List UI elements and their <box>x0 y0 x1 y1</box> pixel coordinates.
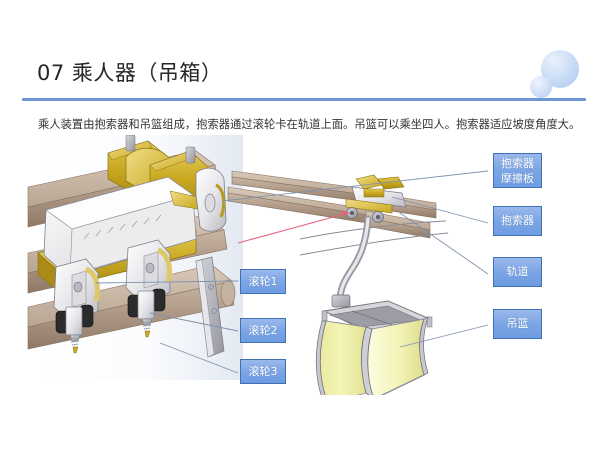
page-title: 07 乘人器（吊箱） <box>37 59 222 87</box>
callout-roller-3[interactable]: 滚轮3 <box>240 359 286 384</box>
decorative-circle-small-icon <box>530 76 552 98</box>
callout-track[interactable]: 轨道 <box>493 257 542 287</box>
cabin-body <box>316 317 428 395</box>
left-detail-gripper-jaw <box>196 168 226 231</box>
callout-gripper[interactable]: 抱索器 <box>493 206 542 236</box>
callout-roller-2[interactable]: 滚轮2 <box>240 318 286 343</box>
slide-subtitle: 乘人装置由抱索器和吊篮组成，抱索器通过滚轮卡在轨道上面。吊篮可以乘坐四人。抱索器… <box>38 117 568 133</box>
header-divider <box>22 98 586 101</box>
callout-cabin[interactable]: 吊篮 <box>493 309 542 339</box>
callout-friction-plate[interactable]: 抱索器 摩擦板 <box>493 153 542 188</box>
slide-canvas: 07 乘人器（吊箱） 乘人装置由抱索器和吊篮组成，抱索器通过滚轮卡在轨道上面。吊… <box>0 0 600 450</box>
callout-roller-1[interactable]: 滚轮1 <box>240 269 286 294</box>
